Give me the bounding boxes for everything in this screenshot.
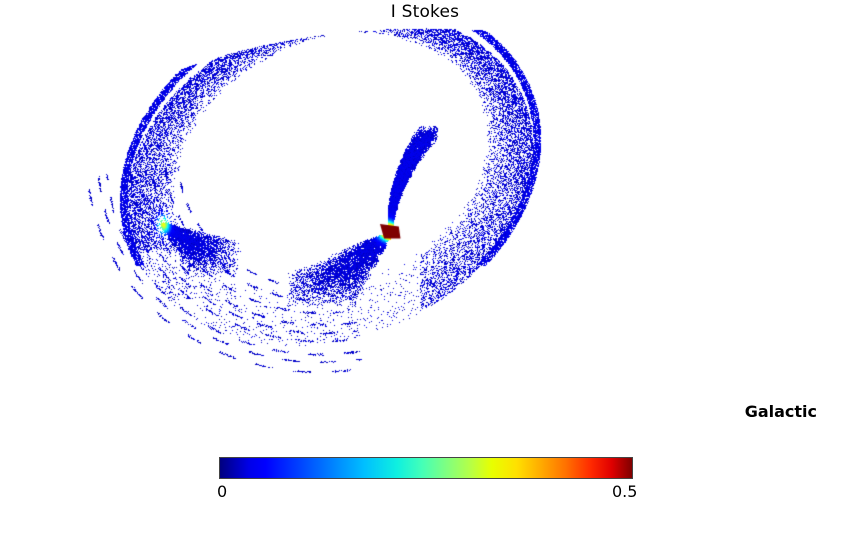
colorbar[interactable]	[219, 457, 633, 479]
colorbar-gradient	[219, 457, 633, 479]
sky-map-figure: I Stokes Galactic 0 0.5	[0, 0, 850, 540]
colorbar-max-tick: 0.5	[612, 482, 637, 501]
colorbar-min-tick: 0	[217, 482, 227, 501]
coordinate-system-label: Galactic	[745, 402, 817, 421]
